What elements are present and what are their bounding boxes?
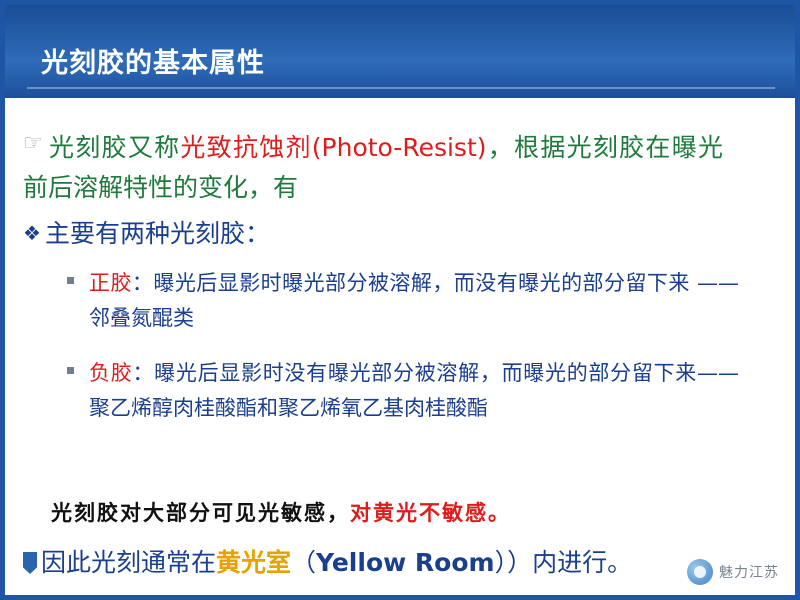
note-part1: 光刻胶对大部分可见光敏感， bbox=[51, 500, 350, 525]
negative-label: 负胶 bbox=[89, 361, 132, 385]
conclusion-seg1: 因此光刻通常在 bbox=[41, 548, 216, 577]
square-bullet-icon bbox=[67, 367, 74, 374]
two-types-label: 主要有两种光刻胶： bbox=[45, 219, 270, 248]
flag-bullet-icon bbox=[23, 552, 37, 574]
title-underline bbox=[27, 87, 775, 89]
conclusion-paren-open: （ bbox=[291, 548, 316, 577]
conclusion-yellow-room-cn: 黄光室 bbox=[216, 548, 291, 577]
list-item-negative: 负胶：曝光后显影时没有曝光部分被溶解，而曝光的部分留下来——聚乙烯醇肉桂酸酯和聚… bbox=[67, 356, 739, 426]
diamond-bullet-icon: ❖ bbox=[23, 216, 41, 250]
watermark: 魅力江苏 bbox=[687, 559, 779, 585]
paragraph-two-types: ❖主要有两种光刻胶： bbox=[23, 216, 743, 251]
definition-seg1: 光刻胶又称 bbox=[49, 133, 180, 162]
positive-text: ：曝光后显影时曝光部分被溶解，而没有曝光的部分留下来 ——邻叠氮醌类 bbox=[89, 271, 739, 330]
slide-canvas: 光刻胶的基本属性 ☞ 光刻胶又称光致抗蚀剂(Photo-Resist)，根据光刻… bbox=[0, 0, 800, 600]
conclusion-tail: ））内进行。 bbox=[495, 548, 633, 577]
watermark-label: 魅力江苏 bbox=[719, 562, 779, 582]
positive-label: 正胶 bbox=[89, 271, 132, 295]
page-title: 光刻胶的基本属性 bbox=[41, 41, 265, 80]
note-line: 光刻胶对大部分可见光敏感，对黄光不敏感。 bbox=[51, 498, 751, 528]
list-item-positive: 正胶：曝光后显影时曝光部分被溶解，而没有曝光的部分留下来 ——邻叠氮醌类 bbox=[67, 266, 739, 336]
conclusion-yellow-room-en: Yellow Room bbox=[316, 548, 495, 577]
conclusion-line: 因此光刻通常在黄光室（Yellow Room））内进行。 bbox=[23, 546, 783, 580]
square-bullet-icon bbox=[67, 277, 74, 284]
negative-text: ：曝光后显影时没有曝光部分被溶解，而曝光的部分留下来——聚乙烯醇肉桂酸酯和聚乙烯… bbox=[89, 361, 739, 420]
note-part2: 对黄光不敏感。 bbox=[350, 500, 511, 525]
paragraph-definition: 光刻胶又称光致抗蚀剂(Photo-Resist)，根据光刻胶在曝光前后溶解特性的… bbox=[23, 128, 723, 208]
circle-logo-icon bbox=[687, 559, 713, 585]
definition-term: 光致抗蚀剂(Photo-Resist) bbox=[180, 133, 486, 162]
slide-body: ☞ 光刻胶又称光致抗蚀剂(Photo-Resist)，根据光刻胶在曝光前后溶解特… bbox=[5, 98, 795, 595]
slide-title-bar: 光刻胶的基本属性 bbox=[5, 5, 795, 98]
